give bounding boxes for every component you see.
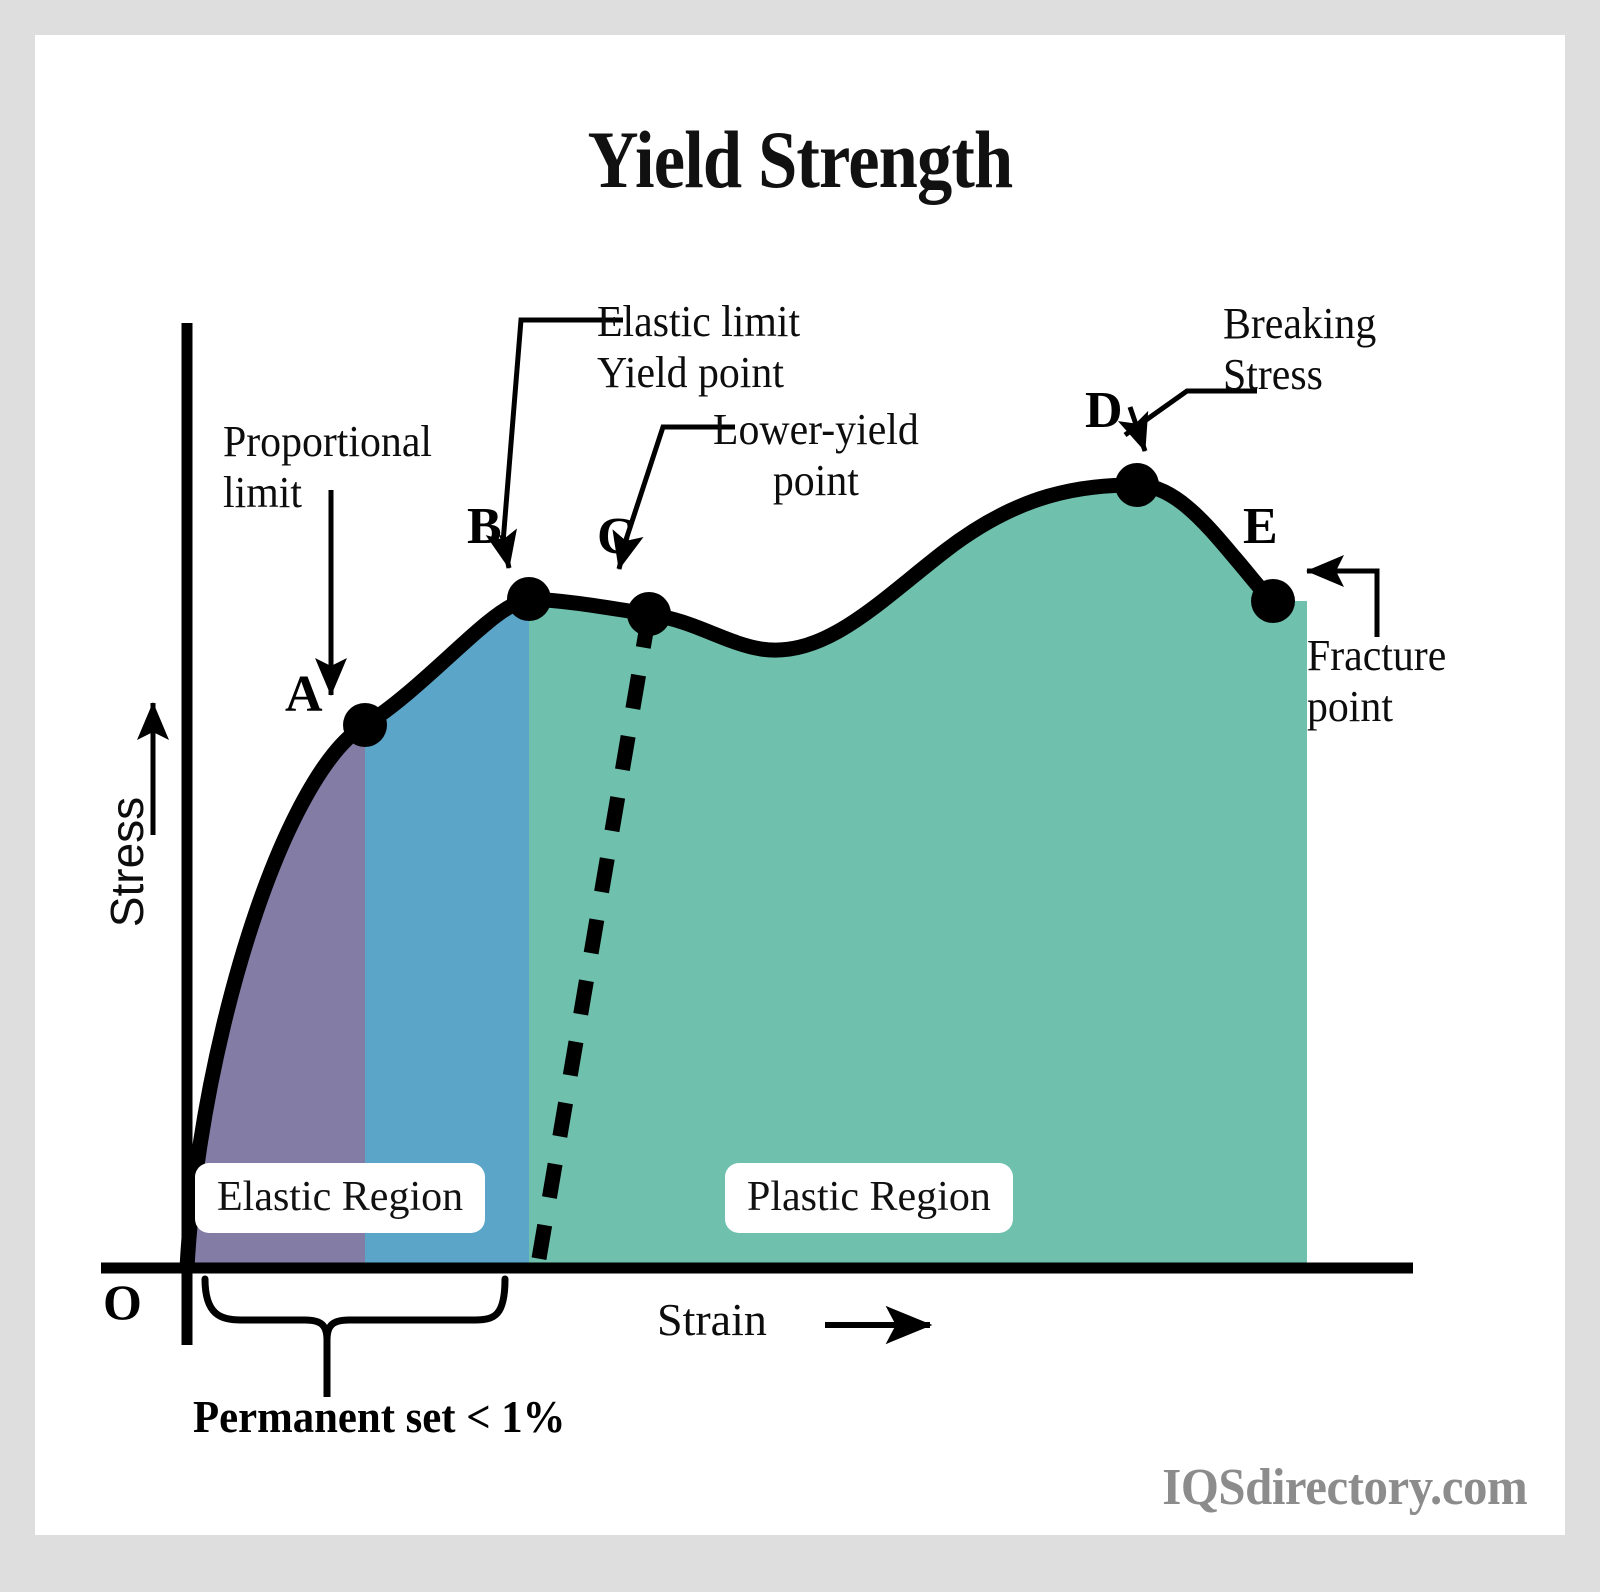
leader-elastic-limit-arrow [502,535,509,568]
point-marker-e [1251,579,1295,623]
leader-fracture-point [1309,571,1377,637]
point-marker-d [1115,463,1159,507]
annotation-elastic-limit-yield-point: Elastic limit Yield point [597,297,800,398]
annotation-proportional-limit: Proportional limit [223,417,432,518]
x-axis-label: Strain [657,1293,767,1346]
point-label-d: D [1085,381,1123,440]
point-marker-a [343,703,387,747]
y-axis-label: Stress [100,752,154,972]
stress-strain-plot [35,35,1565,1535]
diagram-canvas: Yield Strength [35,35,1565,1535]
badge-elastic-region: Elastic Region [195,1163,485,1233]
annotation-fracture-point: Fracture point [1307,631,1446,732]
permanent-set-label: Permanent set < 1% [193,1390,565,1443]
badge-plastic-region: Plastic Region [725,1163,1013,1233]
point-label-a: A [285,665,323,724]
annotation-breaking-stress: Breaking Stress [1223,299,1376,400]
point-label-c: C [597,507,635,566]
origin-label: O [103,1273,142,1331]
point-label-b: B [467,497,502,556]
watermark-label: IQSdirectory.com [1162,1458,1527,1517]
permanent-set-brace [205,1279,505,1340]
image-frame: Yield Strength [0,0,1600,1592]
point-label-e: E [1243,497,1278,556]
point-marker-b [507,577,551,621]
point-marker-c [627,592,671,636]
annotation-lower-yield-point: Lower-yield point [713,405,919,506]
